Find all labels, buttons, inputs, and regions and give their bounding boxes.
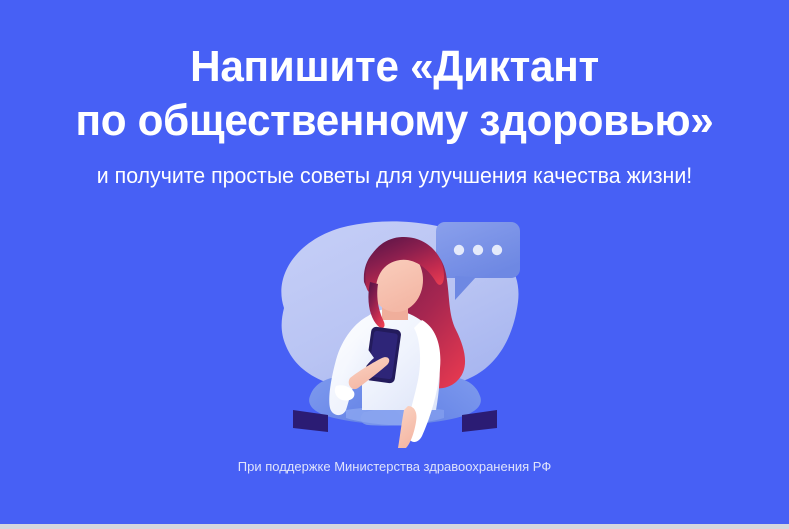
bottom-edge-strip: [0, 524, 789, 529]
page-title: Напишите «Диктант по общественному здоро…: [16, 40, 773, 148]
subtitle: и получите простые советы для улучшения …: [12, 162, 777, 190]
headline-line-1: Напишите «Диктант: [16, 40, 773, 94]
bubble-dot-3: [492, 245, 502, 255]
poster-banner: Напишите «Диктант по общественному здоро…: [0, 0, 789, 529]
ministry-support-note: При поддержке Министерства здравоохранен…: [0, 458, 789, 476]
hero-illustration: [250, 210, 540, 450]
bubble-dot-1: [454, 245, 464, 255]
headline-line-2: по общественному здоровью»: [16, 94, 773, 148]
bubble-dot-2: [473, 245, 483, 255]
